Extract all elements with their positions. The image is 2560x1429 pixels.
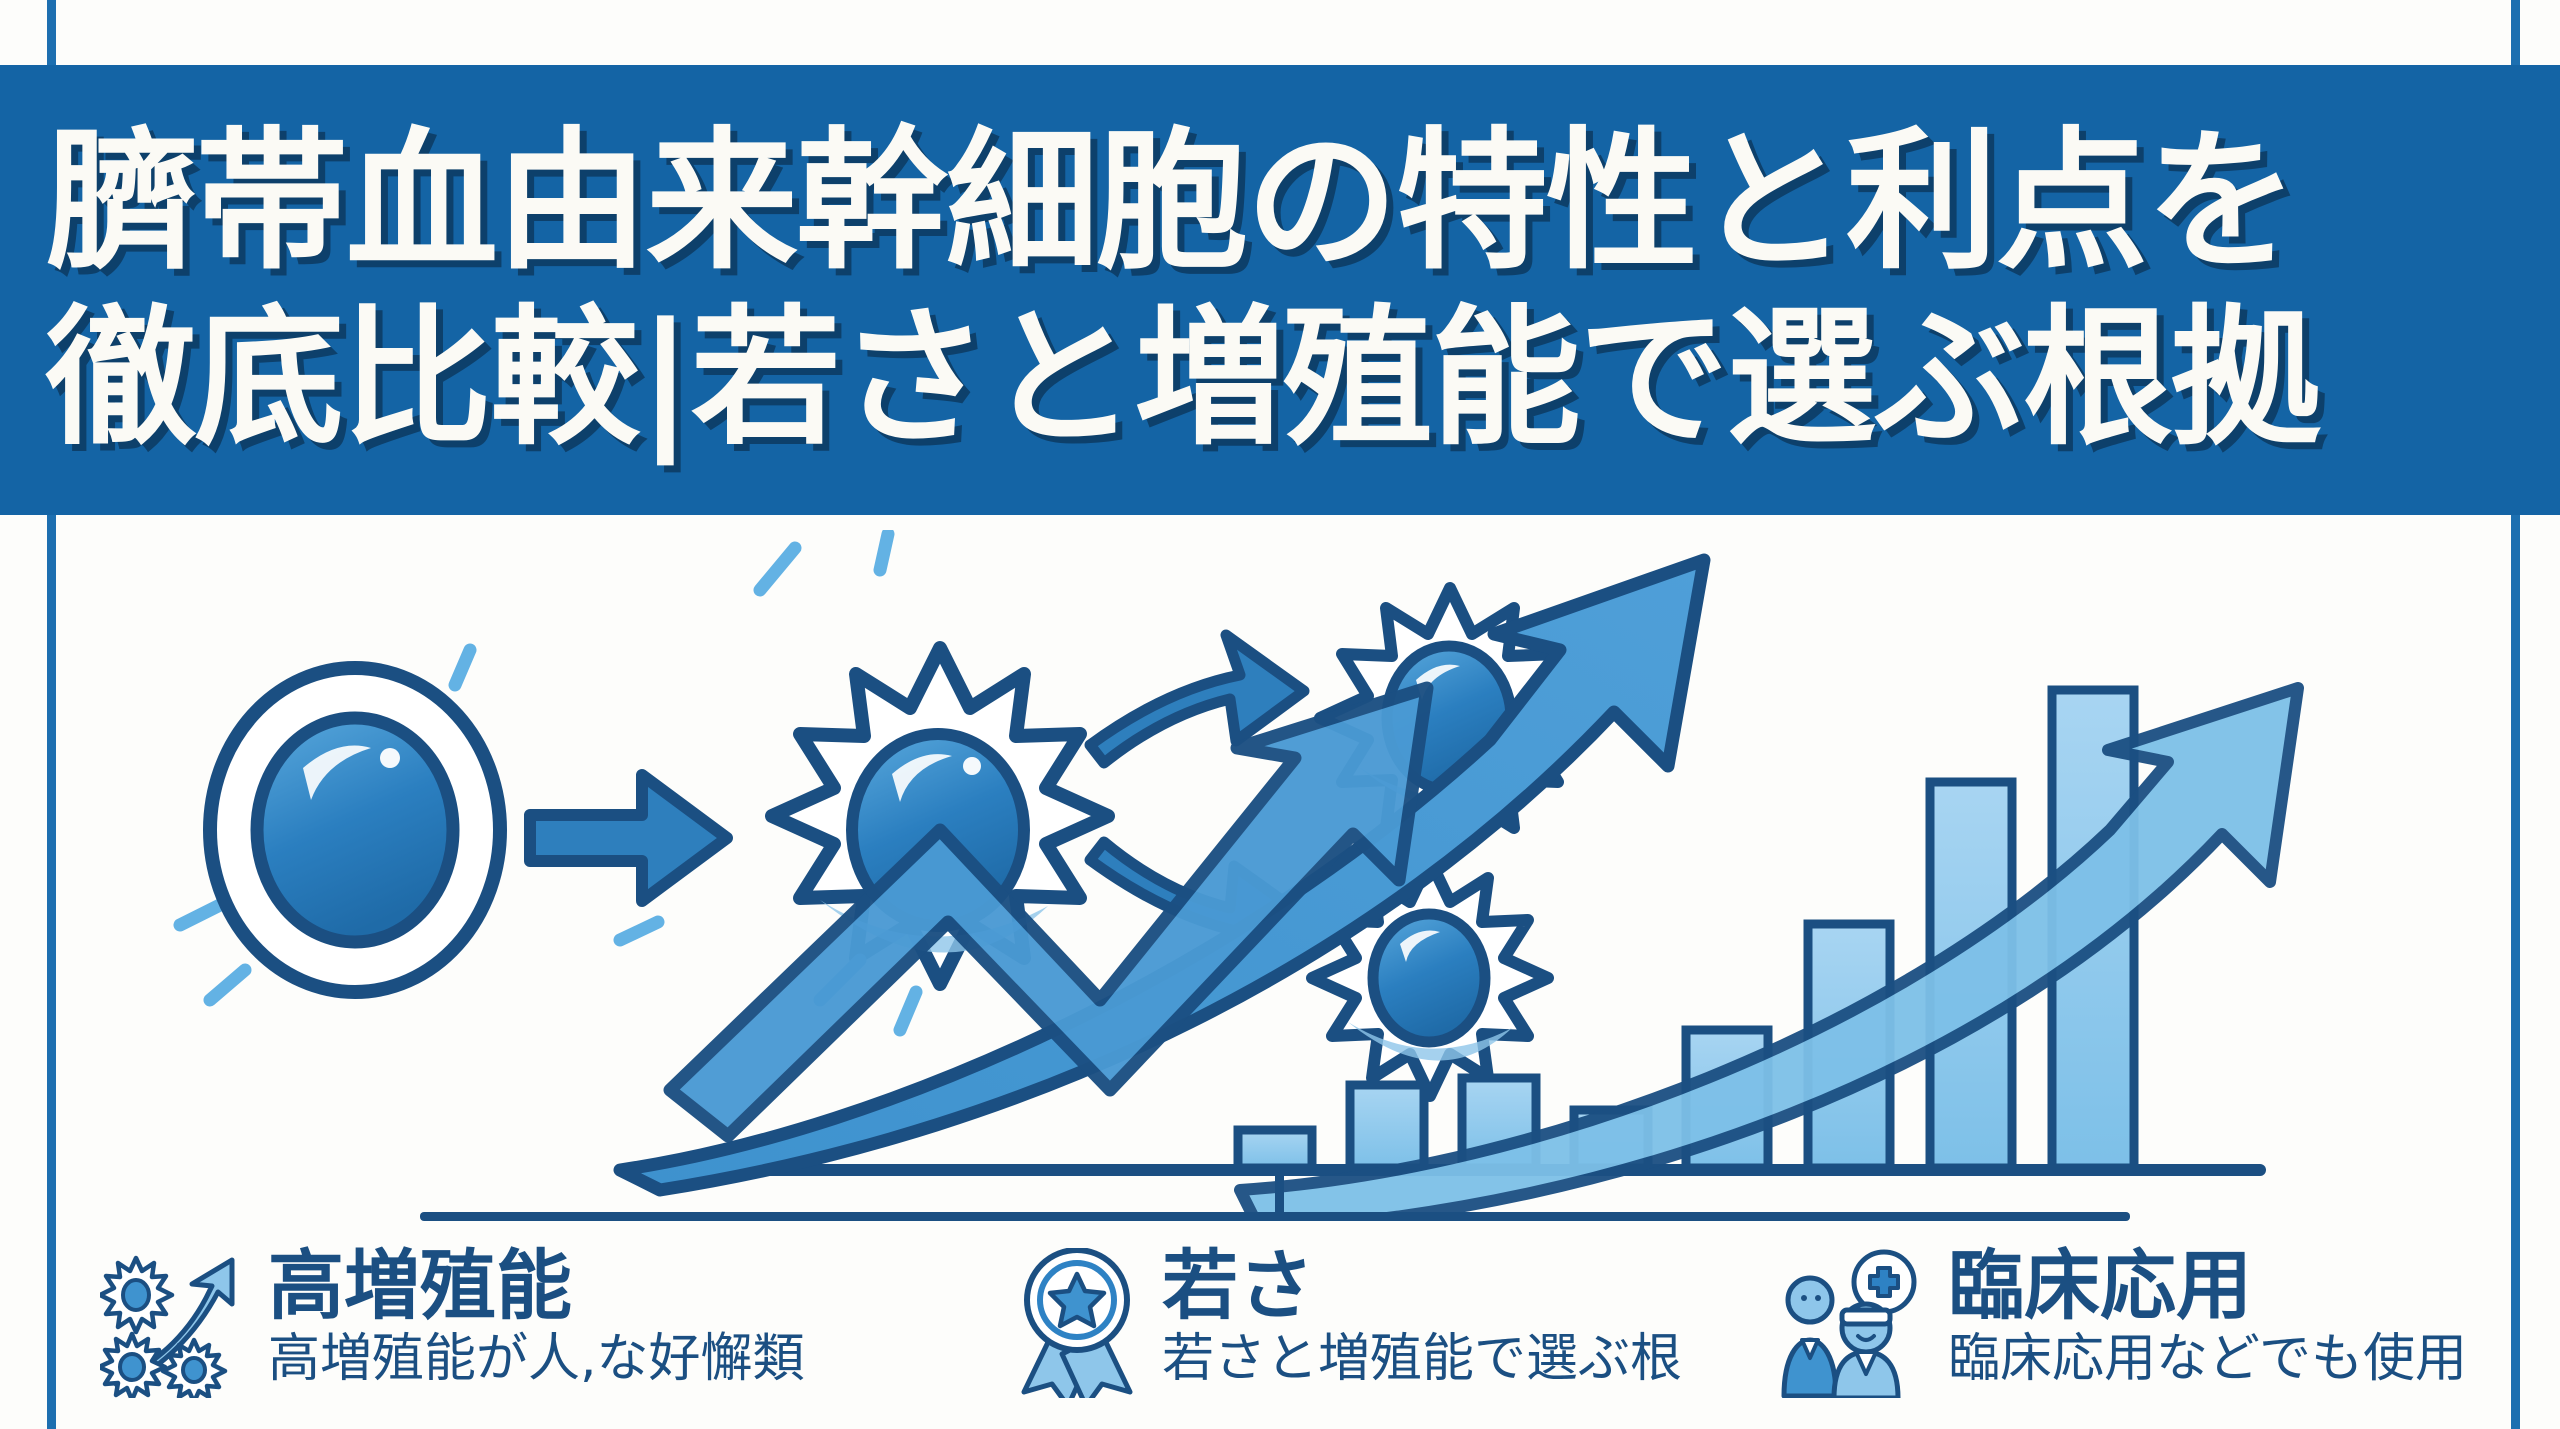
feature-proliferation: 高増殖能 高増殖能が人,な好懈類 — [70, 1248, 1012, 1398]
feature-text: 若さ 若さと増殖能で選ぶ根 — [1162, 1248, 1682, 1387]
divider-line — [420, 1212, 2130, 1221]
bar — [1350, 1085, 1424, 1168]
medical-staff-icon — [1780, 1248, 1930, 1398]
divider-tick — [1275, 1166, 1284, 1216]
feature-youth: 若さ 若さと増殖能で選ぶ根 — [1012, 1248, 1780, 1398]
feature-subtitle: 臨床応用などでも使用 — [1948, 1331, 2467, 1387]
cells-growth-arrow-icon — [100, 1248, 250, 1398]
title-line-1: 臍帯血由来幹細胞の特性と利点を — [46, 112, 2514, 291]
feature-subtitle: 若さと増殖能で選ぶ根 — [1162, 1331, 1682, 1387]
feature-title: 高増殖能 — [268, 1250, 805, 1323]
stem-cell-growth-illustration — [60, 530, 2505, 1220]
feature-subtitle: 高増殖能が人,な好懈類 — [268, 1331, 805, 1387]
feature-clinical: 臨床応用 臨床応用などでも使用 — [1780, 1248, 2500, 1398]
transition-arrow — [530, 775, 727, 901]
title-banner: 臍帯血由来幹細胞の特性と利点を 徹底比較|若さと増殖能で選ぶ根拠 — [0, 65, 2560, 515]
award-ribbon-icon — [1012, 1248, 1144, 1398]
feature-row: 高増殖能 高増殖能が人,な好懈類 若さ 若さと増殖能で選ぶ根 — [70, 1248, 2500, 1429]
stem-cell — [210, 668, 500, 992]
feature-text: 高増殖能 高増殖能が人,な好懈類 — [268, 1248, 805, 1387]
section-divider — [420, 1212, 2130, 1222]
feature-title: 若さ — [1162, 1250, 1682, 1323]
feature-title: 臨床応用 — [1948, 1250, 2467, 1323]
bar — [1238, 1130, 1312, 1168]
title-line-2: 徹底比較|若さと増殖能で選ぶ根拠 — [46, 291, 2514, 468]
feature-text: 臨床応用 臨床応用などでも使用 — [1948, 1248, 2467, 1387]
illustration-stage — [60, 530, 2505, 1220]
